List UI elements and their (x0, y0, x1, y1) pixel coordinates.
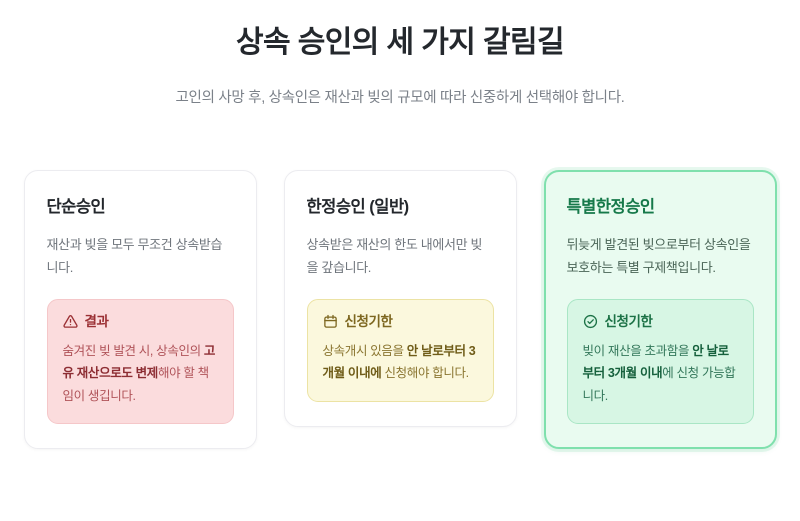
card-description: 뒤늦게 발견된 빚으로부터 상속인을 보호하는 특별 구제책입니다. (567, 234, 754, 279)
info-box-label: 결과 (85, 315, 109, 329)
card-grid: 단순승인 재산과 빚을 모두 무조건 상속받습니다. 결과 숨겨진 빚 발견 시… (0, 170, 800, 449)
card-simple-approval[interactable]: 단순승인 재산과 빚을 모두 무조건 상속받습니다. 결과 숨겨진 빚 발견 시… (24, 170, 257, 449)
check-circle-icon (583, 314, 598, 329)
card-special-limited-approval[interactable]: 특별한정승인 뒤늦게 발견된 빚으로부터 상속인을 보호하는 특별 구제책입니다… (544, 170, 777, 449)
info-box-label: 신청기한 (605, 315, 653, 329)
info-box-text: 숨겨진 빚 발견 시, 상속인의 고유 재산으로도 변제해야 할 책임이 생깁니… (63, 340, 218, 407)
alert-triangle-icon (63, 314, 78, 329)
card-description: 상속받은 재산의 한도 내에서만 빚을 갚습니다. (307, 234, 494, 279)
card-title: 단순승인 (47, 197, 234, 218)
page-title: 상속 승인의 세 가지 갈림길 (0, 24, 800, 62)
deadline-box: 신청기한 상속개시 있음을 안 날로부터 3개월 이내에 신청해야 합니다. (307, 299, 494, 402)
info-box-text: 빚이 재산을 초과함을 안 날로부터 3개월 이내에 신청 가능합니다. (583, 340, 738, 407)
card-limited-approval[interactable]: 한정승인 (일반) 상속받은 재산의 한도 내에서만 빚을 갚습니다. 신청기한… (284, 170, 517, 427)
info-box-header: 신청기한 (583, 314, 738, 329)
info-box-header: 결과 (63, 314, 218, 329)
info-box-text: 상속개시 있음을 안 날로부터 3개월 이내에 신청해야 합니다. (323, 340, 478, 385)
calendar-icon (323, 314, 338, 329)
inheritance-approval-infographic: 상속 승인의 세 가지 갈림길 고인의 사망 후, 상속인은 재산과 빚의 규모… (0, 0, 800, 521)
info-box-label: 신청기한 (345, 315, 393, 329)
page-subtitle: 고인의 사망 후, 상속인은 재산과 빚의 규모에 따라 신중하게 선택해야 합… (0, 62, 800, 107)
card-title: 특별한정승인 (567, 197, 754, 218)
deadline-box: 신청기한 빚이 재산을 초과함을 안 날로부터 3개월 이내에 신청 가능합니다… (567, 299, 754, 424)
page-header: 상속 승인의 세 가지 갈림길 고인의 사망 후, 상속인은 재산과 빚의 규모… (0, 0, 800, 107)
card-title: 한정승인 (일반) (307, 197, 494, 218)
result-box: 결과 숨겨진 빚 발견 시, 상속인의 고유 재산으로도 변제해야 할 책임이 … (47, 299, 234, 424)
info-box-header: 신청기한 (323, 314, 478, 329)
card-description: 재산과 빚을 모두 무조건 상속받습니다. (47, 234, 234, 279)
